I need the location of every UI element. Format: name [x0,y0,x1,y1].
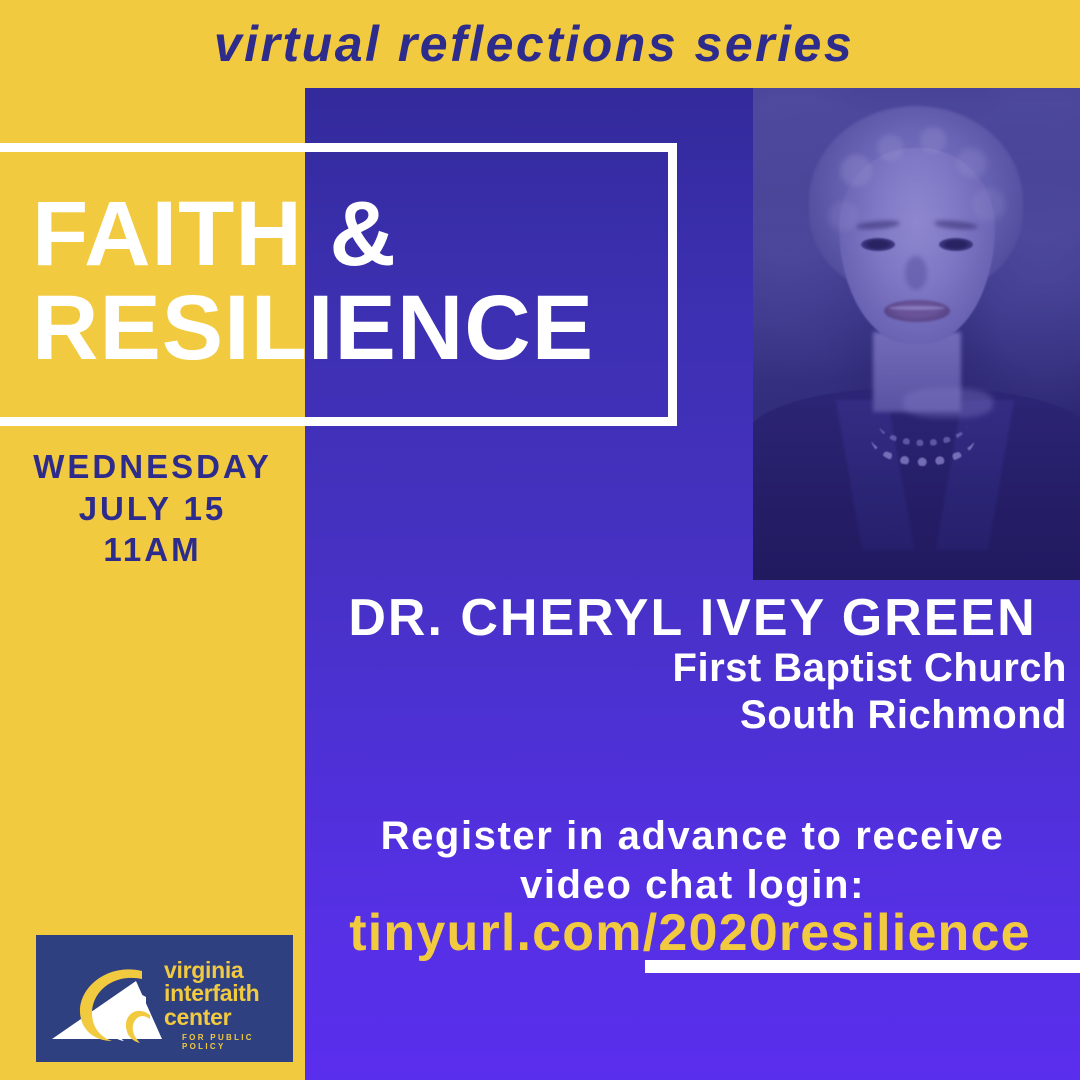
photo-tint-overlay [753,88,1080,580]
organization-logo[interactable]: virginia interfaith center FOR PUBLIC PO… [36,935,293,1062]
poster-canvas: virtual reflections series FAITH & RESIL… [0,0,1080,1080]
title-line-2: RESILIENCE [32,286,672,372]
speaker-organization: First Baptist Church South Richmond [305,645,1067,739]
main-title: FAITH & RESILIENCE [32,192,672,371]
speaker-photo [753,88,1080,580]
url-underline-bar [645,960,1080,973]
event-date: JULY 15 [0,488,305,530]
registration-url[interactable]: tinyurl.com/2020resilience [300,903,1080,963]
photo-inner [753,88,1080,580]
speaker-org-line-1: First Baptist Church [305,645,1067,692]
series-title: virtual reflections series [0,0,1080,88]
event-day: WEDNESDAY [0,446,305,488]
logo-line-2: interfaith [164,982,259,1005]
logo-tagline: FOR PUBLIC POLICY [182,1033,293,1051]
register-line-1: Register in advance to receive [305,812,1080,861]
event-date-block: WEDNESDAY JULY 15 11AM [0,446,305,571]
logo-line-1: virginia [164,959,259,982]
header-strip: virtual reflections series [0,0,1080,88]
register-instructions: Register in advance to receive video cha… [305,812,1080,910]
logo-line-3: center [164,1006,259,1029]
speaker-org-line-2: South Richmond [305,692,1067,739]
wave-swirl-logo-icon [50,957,168,1045]
speaker-name: DR. CHERYL IVEY GREEN [305,588,1080,648]
logo-wordmark: virginia interfaith center [164,959,259,1029]
title-line-1: FAITH & [32,192,672,278]
event-time: 11AM [0,529,305,571]
